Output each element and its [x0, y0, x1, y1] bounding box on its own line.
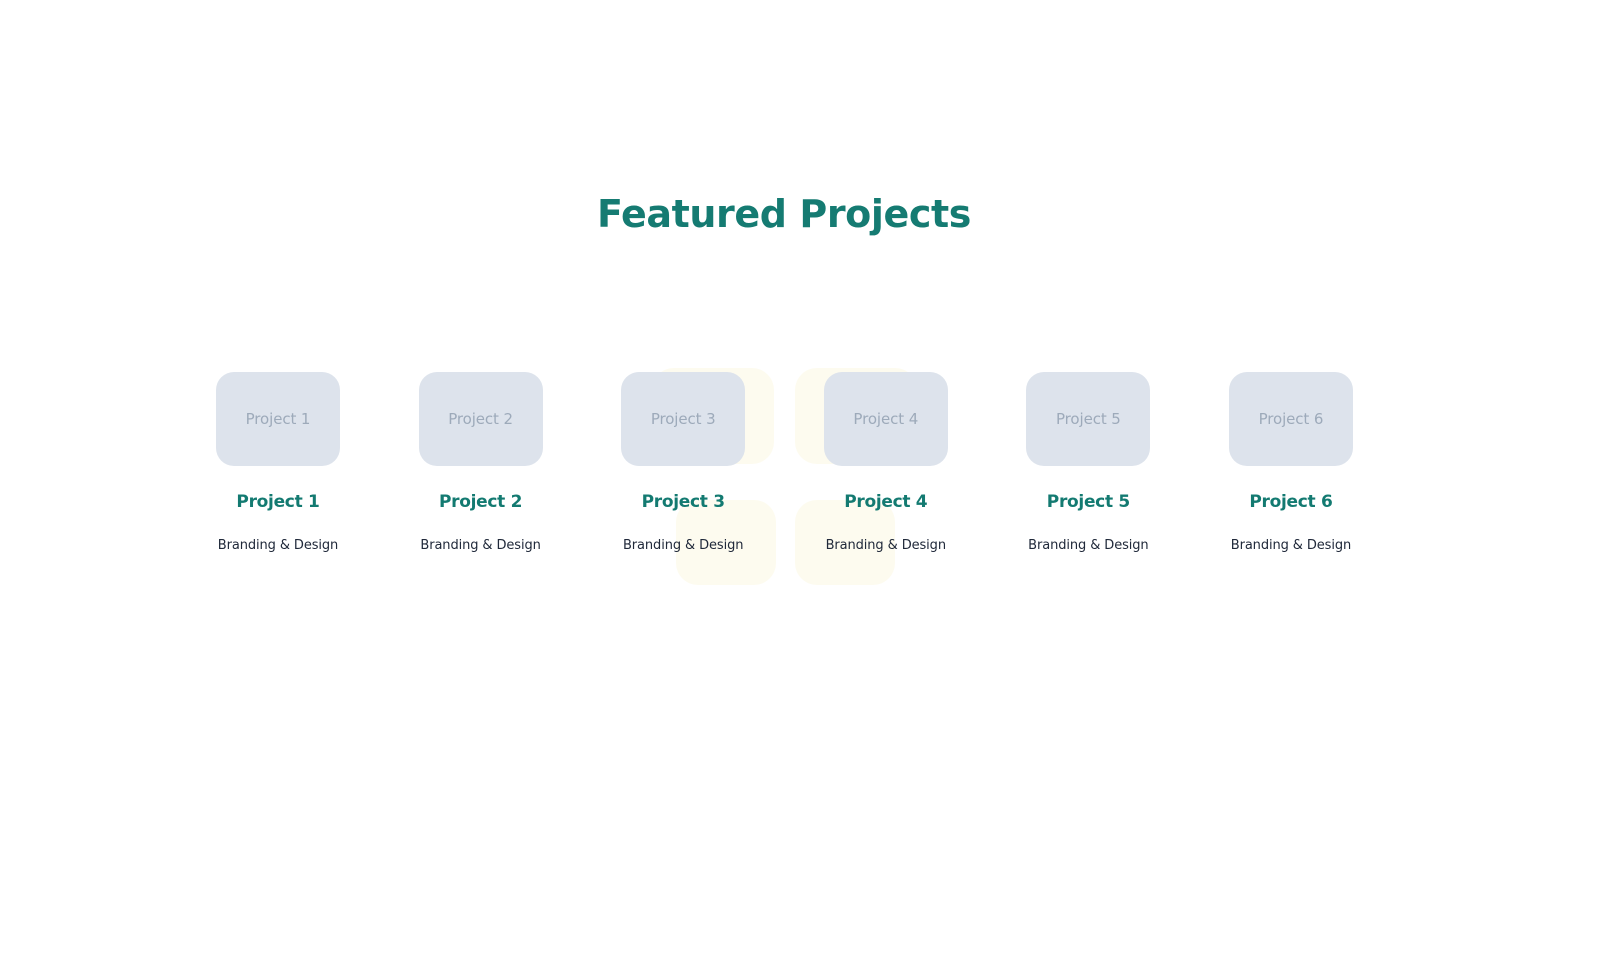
featured-projects-page: Featured Projects Project 1 Project 1 Br…	[0, 0, 1600, 978]
project-category: Branding & Design	[1229, 538, 1353, 554]
project-category: Branding & Design	[419, 538, 543, 554]
project-thumbnail[interactable]: Project 6	[1229, 372, 1353, 466]
project-category: Branding & Design	[621, 538, 745, 554]
project-card[interactable]: Project 1 Project 1 Branding & Design	[216, 372, 340, 554]
project-title[interactable]: Project 5	[1026, 492, 1150, 512]
project-card[interactable]: Project 4 Project 4 Branding & Design	[824, 372, 948, 554]
project-category: Branding & Design	[216, 538, 340, 554]
project-thumbnail[interactable]: Project 4	[824, 372, 948, 466]
project-card[interactable]: Project 6 Project 6 Branding & Design	[1229, 372, 1353, 554]
project-title[interactable]: Project 4	[824, 492, 948, 512]
project-thumbnail[interactable]: Project 5	[1026, 372, 1150, 466]
project-thumbnail[interactable]: Project 2	[419, 372, 543, 466]
project-title[interactable]: Project 3	[621, 492, 745, 512]
project-category: Branding & Design	[1026, 538, 1150, 554]
project-card[interactable]: Project 3 Project 3 Branding & Design	[621, 372, 745, 554]
page-title: Featured Projects	[0, 192, 1568, 238]
projects-grid: Project 1 Project 1 Branding & Design Pr…	[216, 372, 1353, 592]
project-title[interactable]: Project 6	[1229, 492, 1353, 512]
project-thumbnail[interactable]: Project 3	[621, 372, 745, 466]
project-thumbnail[interactable]: Project 1	[216, 372, 340, 466]
project-title[interactable]: Project 2	[419, 492, 543, 512]
project-title[interactable]: Project 1	[216, 492, 340, 512]
project-card[interactable]: Project 5 Project 5 Branding & Design	[1026, 372, 1150, 554]
project-category: Branding & Design	[824, 538, 948, 554]
project-card[interactable]: Project 2 Project 2 Branding & Design	[419, 372, 543, 554]
